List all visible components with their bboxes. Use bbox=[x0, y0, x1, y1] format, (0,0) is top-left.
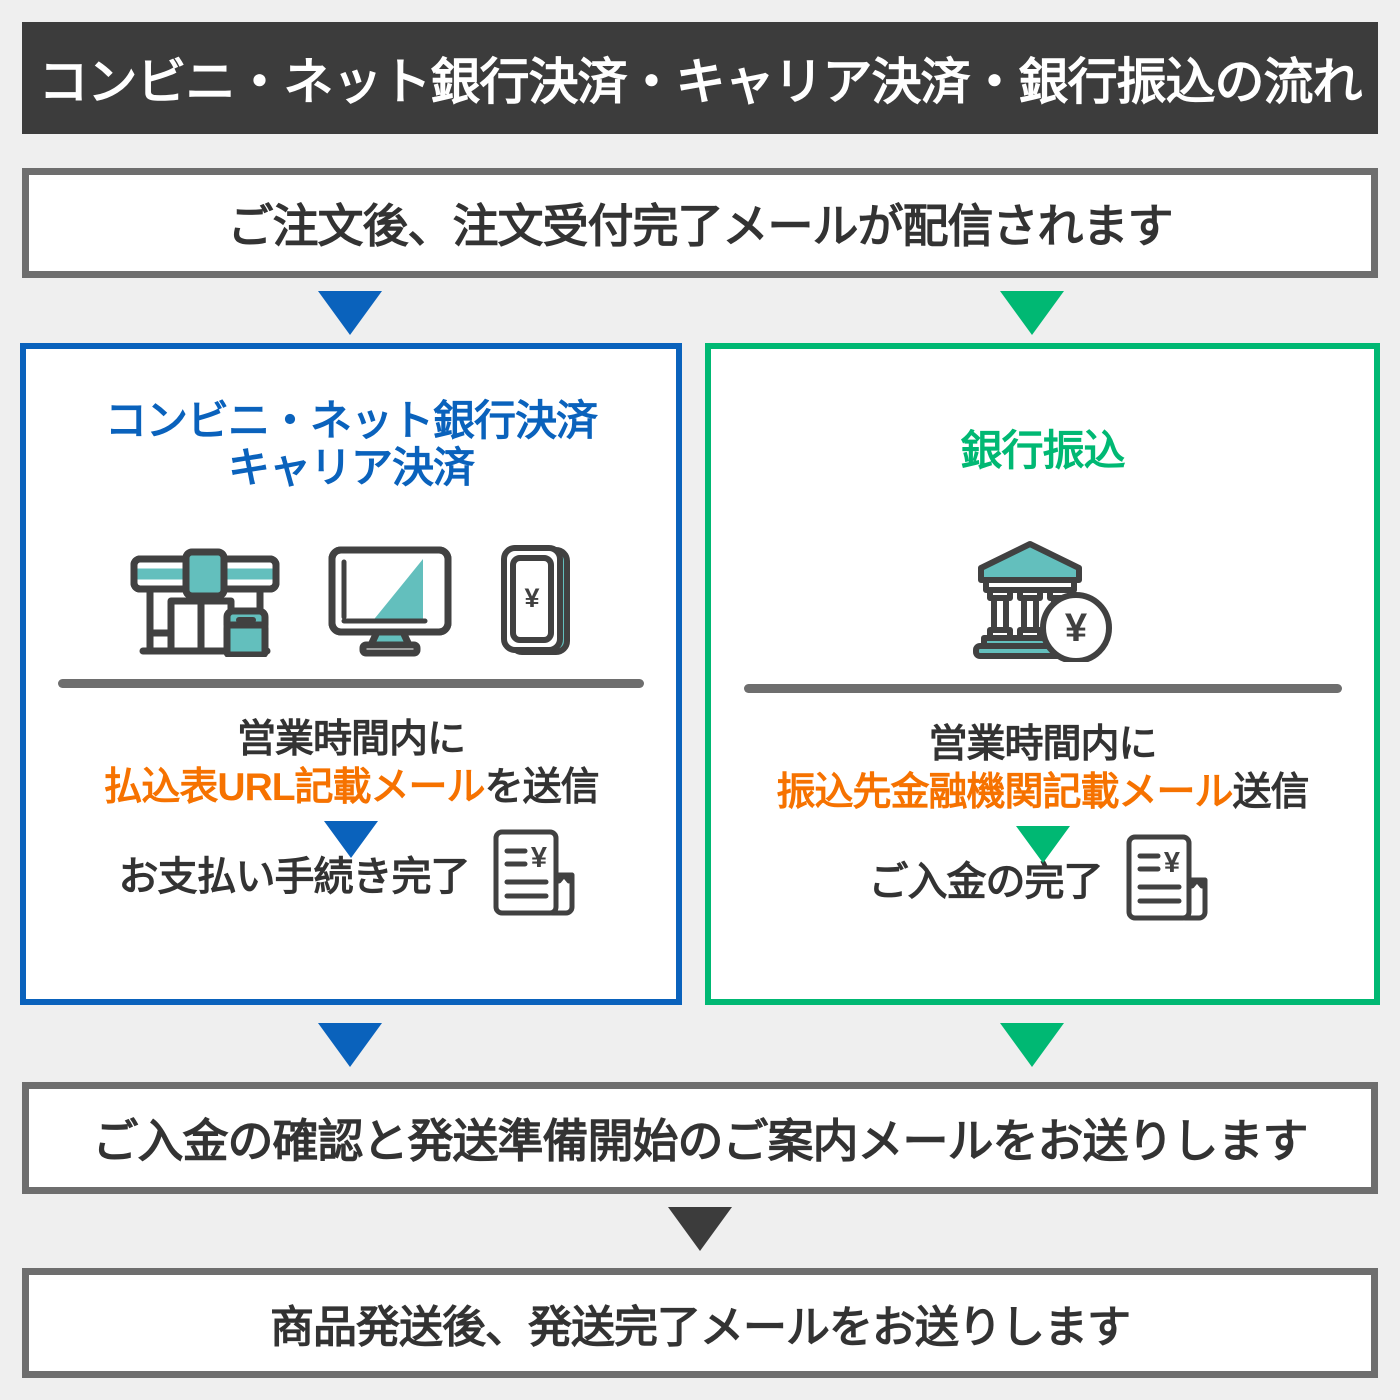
panel-convenience-title-line1: コンビニ・ネット銀行決済 bbox=[26, 397, 676, 444]
page-title-bar: コンビニ・ネット銀行決済・キャリア決済・銀行振込の流れ bbox=[22, 22, 1378, 134]
panel-convenience-notice-suffix: を送信 bbox=[485, 766, 599, 809]
down-arrow-dark-bottom bbox=[668, 1207, 732, 1251]
desktop-monitor-icon bbox=[327, 545, 453, 657]
panel-convenience-title-line2: キャリア決済 bbox=[26, 444, 676, 491]
down-arrow-green-mid bbox=[1000, 1023, 1064, 1067]
step-order-label: ご注文後、注文受付完了メールが配信されます bbox=[228, 190, 1173, 256]
step-shipped-label: 商品発送後、発送完了メールをお送りします bbox=[270, 1291, 1130, 1355]
step-order-box: ご注文後、注文受付完了メールが配信されます bbox=[22, 168, 1378, 278]
down-arrow-blue-inner bbox=[324, 821, 378, 858]
panel-bank-transfer: 銀行振込 bbox=[705, 343, 1380, 1005]
bank-building-yen-icon: ¥ bbox=[968, 540, 1118, 662]
panel-convenience-notice-line1: 営業時間内に bbox=[26, 716, 676, 764]
down-arrow-green-top bbox=[1000, 291, 1064, 335]
smartphone-yen-icon: ¥ bbox=[499, 545, 573, 657]
down-arrow-blue-mid bbox=[318, 1023, 382, 1067]
page-title: コンビニ・ネット銀行決済・キャリア決済・銀行振込の流れ bbox=[39, 42, 1362, 114]
invoice-receipt-icon: ¥ bbox=[1117, 832, 1217, 924]
down-arrow-blue-top bbox=[318, 291, 382, 335]
invoice-receipt-icon: ¥ bbox=[484, 827, 584, 919]
panel-convenience-divider bbox=[58, 679, 644, 688]
panel-convenience-notice-line2: 払込表URL記載メールを送信 bbox=[26, 764, 676, 812]
panel-bank-notice-line2: 振込先金融機関記載メール送信 bbox=[711, 769, 1374, 817]
svg-text:¥: ¥ bbox=[1163, 847, 1179, 879]
panel-bank-title: 銀行振込 bbox=[711, 427, 1374, 474]
down-arrow-green-inner bbox=[1016, 826, 1070, 863]
svg-text:¥: ¥ bbox=[524, 583, 539, 613]
step-shipped-box: 商品発送後、発送完了メールをお送りします bbox=[22, 1268, 1378, 1378]
panel-bank-notice: 営業時間内に 振込先金融機関記載メール送信 bbox=[711, 721, 1374, 816]
step-confirm-box: ご入金の確認と発送準備開始のご案内メールをお送りします bbox=[22, 1082, 1378, 1194]
svg-text:¥: ¥ bbox=[530, 842, 546, 874]
panel-convenience-payment: コンビニ・ネット銀行決済 キャリア決済 bbox=[20, 343, 682, 1005]
convenience-store-icon bbox=[129, 547, 281, 657]
panel-convenience-notice: 営業時間内に 払込表URL記載メールを送信 bbox=[26, 716, 676, 811]
panel-bank-divider bbox=[744, 684, 1342, 693]
panel-convenience-icon-row: ¥ bbox=[26, 525, 676, 657]
svg-text:¥: ¥ bbox=[1064, 606, 1087, 650]
panel-bank-notice-line1: 営業時間内に bbox=[711, 721, 1374, 769]
step-confirm-label: ご入金の確認と発送準備開始のご案内メールをお送りします bbox=[93, 1105, 1308, 1171]
panel-bank-notice-highlight: 振込先金融機関記載メール bbox=[776, 771, 1232, 814]
panel-bank-icon-row: ¥ bbox=[711, 530, 1374, 662]
panel-convenience-title: コンビニ・ネット銀行決済 キャリア決済 bbox=[26, 397, 676, 491]
flow-diagram: コンビニ・ネット銀行決済・キャリア決済・銀行振込の流れ ご注文後、注文受付完了メ… bbox=[0, 0, 1400, 1400]
panel-bank-notice-suffix: 送信 bbox=[1233, 771, 1309, 814]
panel-convenience-notice-highlight: 払込表URL記載メール bbox=[103, 766, 484, 809]
panel-convenience-done-label: お支払い手続き完了 bbox=[119, 844, 470, 902]
